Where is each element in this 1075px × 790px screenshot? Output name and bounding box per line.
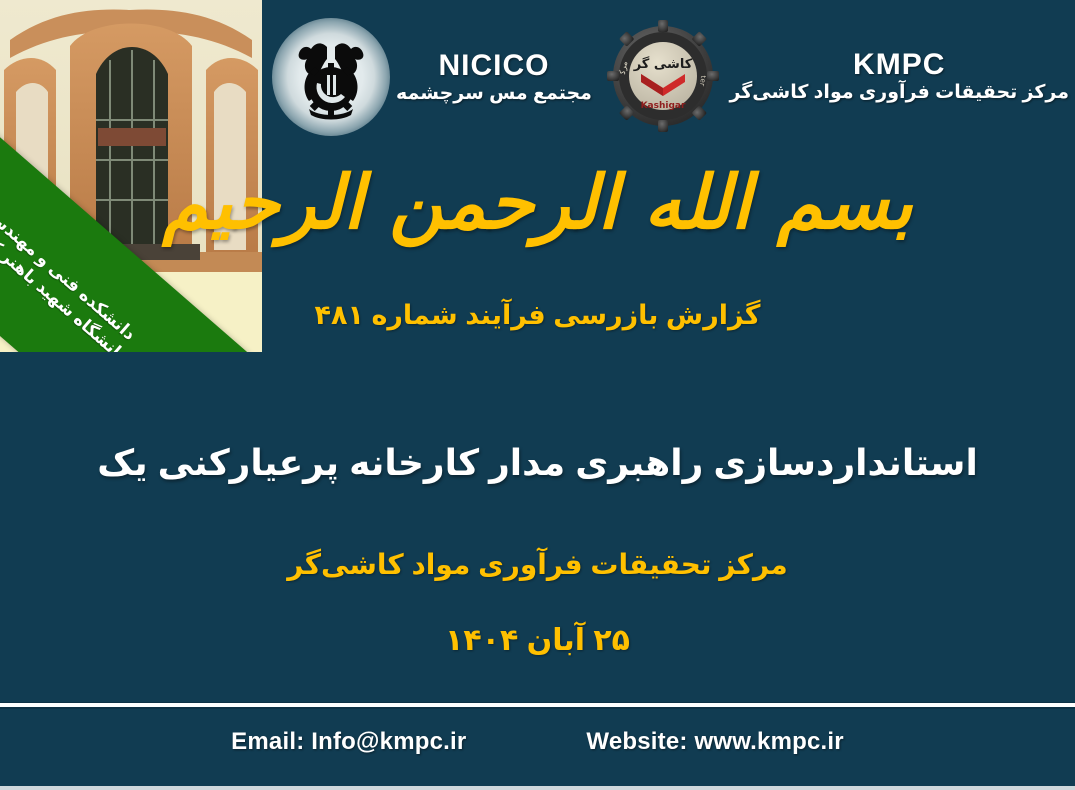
nicico-emblem-icon	[272, 18, 390, 136]
page-title: استانداردسازی راهبری مدار کارخانه پرعیار…	[60, 437, 1015, 489]
bismillah-calligraphy: بسم الله الرحمن الرحیم	[0, 150, 1075, 257]
svg-text:Kashigar: Kashigar	[641, 101, 686, 111]
organization-name: مرکز تحقیقات فرآوری مواد کاشی‌گر	[0, 548, 1075, 581]
kashigar-emblem-icon: مركز تحقيقات فرآوری مواد Mineral Process…	[603, 16, 723, 136]
report-cover-slide: دانشکده فنی و مهندسی دانشگاه شهید باهنر …	[0, 0, 1075, 790]
report-date: ۲۵ آبان ۱۴۰۴	[0, 623, 1075, 658]
header-logos: NICICO مجتمع مس سرچشمه	[262, 0, 1075, 150]
footer-email[interactable]: Email: Info@kmpc.ir	[231, 728, 466, 756]
kmpc-text: KMPC مرکز تحقیقات فرآوری مواد کاشی‌گر	[729, 48, 1069, 104]
nicico-logo-block: NICICO مجتمع مس سرچشمه	[272, 18, 592, 136]
nicico-acronym: NICICO	[438, 49, 549, 84]
report-number-line: گزارش بازرسی فرآیند شماره ۴۸۱	[0, 300, 1075, 331]
footer-contact: Website: www.kmpc.ir Email: Info@kmpc.ir	[0, 712, 1075, 772]
nicico-subtitle: مجتمع مس سرچشمه	[396, 83, 592, 105]
kmpc-acronym: KMPC	[853, 48, 945, 83]
kmpc-logo-block: KMPC مرکز تحقیقات فرآوری مواد کاشی‌گر	[603, 16, 1069, 136]
nicico-text: NICICO مجتمع مس سرچشمه	[396, 49, 592, 105]
svg-text:کاشی گر: کاشی گر	[633, 56, 693, 72]
nicico-emblem-svg	[285, 31, 377, 123]
kashigar-emblem-svg: مركز تحقيقات فرآوری مواد Mineral Process…	[605, 18, 721, 134]
footer-divider	[0, 702, 1075, 709]
kmpc-subtitle: مرکز تحقیقات فرآوری مواد کاشی‌گر	[729, 82, 1069, 104]
footer-website[interactable]: Website: www.kmpc.ir	[586, 728, 843, 756]
